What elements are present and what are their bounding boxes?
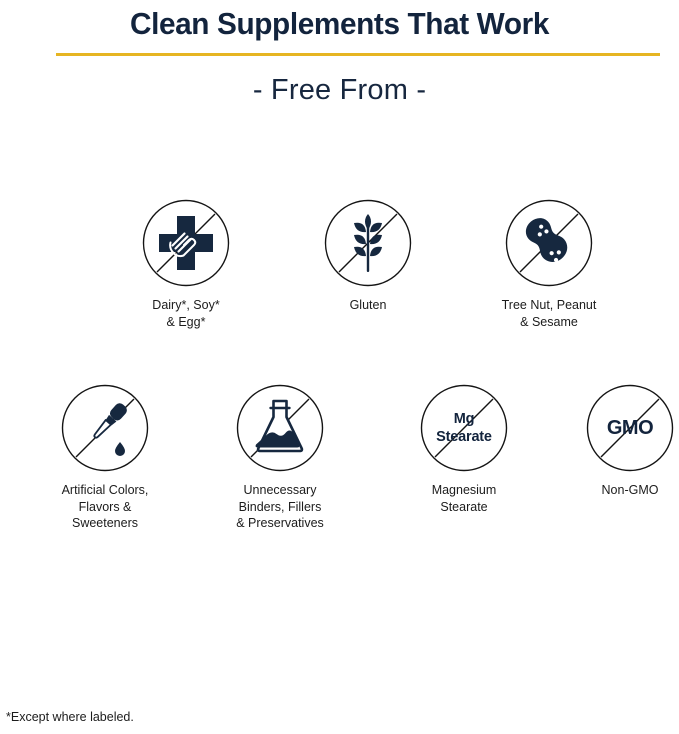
flask-icon — [236, 384, 324, 472]
no-symbol-icon — [586, 384, 674, 472]
badge-non-gmo: GMO — [586, 384, 674, 472]
free-from-item-magnesium-stearate[interactable]: Mg Stearate Magnesium Stearate — [376, 384, 552, 515]
free-from-item-dairy-soy-egg[interactable]: Dairy*, Soy* & Egg* — [98, 199, 274, 330]
free-from-label-non-gmo: Non-GMO — [542, 482, 679, 499]
badge-tree-nut — [505, 199, 593, 287]
badge-magnesium-stearate: Mg Stearate — [420, 384, 508, 472]
free-from-label-binders-fillers: Unnecessary Binders, Fillers & Preservat… — [192, 482, 368, 532]
peanut-icon — [505, 199, 593, 287]
wheat-stalk-icon — [324, 199, 412, 287]
free-from-item-gluten[interactable]: Gluten — [280, 199, 456, 314]
free-from-label-dairy-soy-egg: Dairy*, Soy* & Egg* — [98, 297, 274, 330]
free-from-label-gluten: Gluten — [280, 297, 456, 314]
free-from-label-artificial-colors: Artificial Colors, Flavors & Sweeteners — [17, 482, 193, 532]
no-symbol-icon — [420, 384, 508, 472]
badge-artificial-colors — [61, 384, 149, 472]
free-from-item-tree-nut[interactable]: Tree Nut, Peanut & Sesame — [461, 199, 637, 330]
free-from-label-tree-nut: Tree Nut, Peanut & Sesame — [461, 297, 637, 330]
free-from-item-non-gmo[interactable]: GMO Non-GMO — [542, 384, 679, 499]
badge-binders-fillers — [236, 384, 324, 472]
badge-dairy-soy-egg — [142, 199, 230, 287]
badge-gluten — [324, 199, 412, 287]
free-from-item-binders-fillers[interactable]: Unnecessary Binders, Fillers & Preservat… — [192, 384, 368, 532]
footnote-except-where-labeled: *Except where labeled. — [6, 709, 134, 725]
free-from-icon-grid: Dairy*, Soy* & Egg* Gluten — [0, 0, 679, 734]
dropper-icon — [61, 384, 149, 472]
free-from-item-artificial-colors[interactable]: Artificial Colors, Flavors & Sweeteners — [17, 384, 193, 532]
free-from-label-magnesium-stearate: Magnesium Stearate — [376, 482, 552, 515]
medical-cross-hand-icon — [142, 199, 230, 287]
